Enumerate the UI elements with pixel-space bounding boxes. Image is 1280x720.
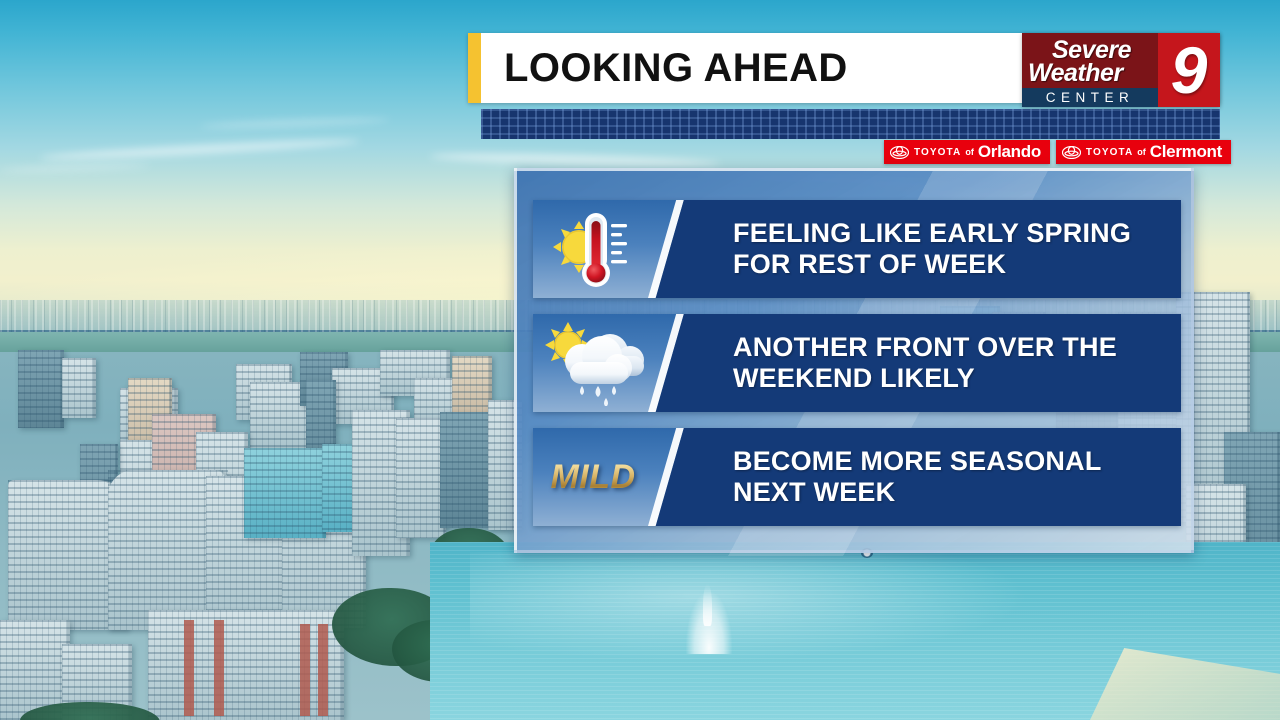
toyota-logo-icon xyxy=(890,146,909,159)
sponsor-city: Clermont xyxy=(1150,142,1222,162)
row-label: ANOTHER FRONT OVER THE WEEKEND LIKELY xyxy=(733,332,1117,394)
sponsor-brand: TOYOTA xyxy=(1086,147,1133,158)
severe-weather-center-logo: Severe Weather CENTER 9 xyxy=(1022,33,1220,107)
row-icon-panel xyxy=(533,314,711,412)
forecast-row: FEELING LIKE EARLY SPRING FOR REST OF WE… xyxy=(533,200,1181,298)
sponsor-bar: TOYOTA of Orlando TOYOTA of Clermont xyxy=(884,140,1231,164)
logo-words: Severe Weather xyxy=(1022,33,1158,88)
logo-line-center: CENTER xyxy=(1022,88,1158,107)
logo-channel-number: 9 xyxy=(1158,33,1220,107)
logo-line-weather: Weather xyxy=(1028,61,1158,86)
title-underbar xyxy=(481,109,1220,139)
sponsor-connector: of xyxy=(1137,147,1146,157)
row-icon-panel: MILD xyxy=(533,428,711,526)
sponsor-toyota-orlando[interactable]: TOYOTA of Orlando xyxy=(884,140,1050,164)
row-label: BECOME MORE SEASONAL NEXT WEEK xyxy=(733,446,1102,508)
weather-graphic-screen: LOOKING AHEAD Severe Weather CENTER 9 TO… xyxy=(0,0,1280,720)
fountain-jet xyxy=(703,584,712,626)
row-text-panel: FEELING LIKE EARLY SPRING FOR REST OF WE… xyxy=(711,200,1181,298)
row-label-line2: NEXT WEEK xyxy=(733,477,1102,508)
sun-thermometer-icon xyxy=(533,200,653,298)
row-icon-panel xyxy=(533,200,711,298)
logo-wordmark: Severe Weather CENTER xyxy=(1022,33,1158,107)
row-text-panel: BECOME MORE SEASONAL NEXT WEEK xyxy=(711,428,1181,526)
forecast-row: MILD BECOME MORE SEASONAL NEXT WEEK xyxy=(533,428,1181,526)
mild-label: MILD xyxy=(550,458,635,497)
toyota-logo-icon xyxy=(1062,146,1081,159)
sponsor-connector: of xyxy=(965,147,974,157)
title-accent-bar xyxy=(468,33,481,103)
row-label-line1: ANOTHER FRONT OVER THE xyxy=(733,332,1117,363)
lake-highlight xyxy=(470,552,1030,662)
sun-rain-cloud-icon xyxy=(533,314,653,412)
row-label-line2: FOR REST OF WEEK xyxy=(733,249,1131,280)
sponsor-toyota-clermont[interactable]: TOYOTA of Clermont xyxy=(1056,140,1231,164)
forecast-panel: FEELING LIKE EARLY SPRING FOR REST OF WE… xyxy=(514,168,1194,553)
row-label-line2: WEEKEND LIKELY xyxy=(733,363,1117,394)
row-label: FEELING LIKE EARLY SPRING FOR REST OF WE… xyxy=(733,218,1131,280)
sponsor-brand: TOYOTA xyxy=(914,147,961,158)
row-text-panel: ANOTHER FRONT OVER THE WEEKEND LIKELY xyxy=(711,314,1181,412)
sponsor-city: Orlando xyxy=(978,142,1041,162)
row-label-line1: BECOME MORE SEASONAL xyxy=(733,446,1102,477)
forecast-row: ANOTHER FRONT OVER THE WEEKEND LIKELY xyxy=(533,314,1181,412)
row-label-line1: FEELING LIKE EARLY SPRING xyxy=(733,218,1131,249)
mild-text-icon: MILD xyxy=(533,428,653,526)
